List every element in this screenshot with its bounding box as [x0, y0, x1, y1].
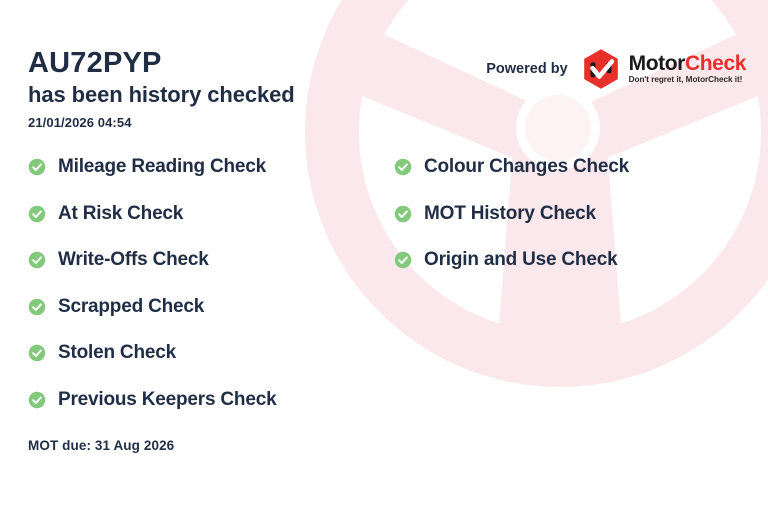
check-item-label: At Risk Check	[58, 203, 183, 225]
check-item: MOT History Check	[394, 202, 629, 226]
vehicle-registration: AU72PYP	[28, 48, 162, 78]
checks-left-column: Mileage Reading CheckAt Risk CheckWrite-…	[28, 155, 276, 412]
wordmark-check: Check	[685, 52, 746, 75]
check-timestamp: 21/01/2026 04:54	[28, 115, 132, 130]
green-check-circle-icon	[28, 391, 46, 409]
green-check-circle-icon	[28, 205, 46, 223]
check-item-label: Previous Keepers Check	[58, 389, 276, 411]
green-check-circle-icon	[28, 251, 46, 269]
check-item: Origin and Use Check	[394, 248, 629, 272]
motorcheck-wordmark: MotorCheck Don't regret it, MotorCheck i…	[629, 53, 746, 84]
motorcheck-hexagon-m-check-icon	[580, 48, 622, 90]
check-item: At Risk Check	[28, 202, 276, 226]
wordmark-motor: Motor	[629, 52, 685, 75]
check-item: Previous Keepers Check	[28, 388, 276, 412]
check-item: Mileage Reading Check	[28, 155, 276, 179]
check-item: Stolen Check	[28, 341, 276, 365]
check-item: Colour Changes Check	[394, 155, 629, 179]
check-item-label: Stolen Check	[58, 342, 176, 364]
brand-tagline: Don't regret it, MotorCheck it!	[629, 76, 746, 84]
powered-by-label: Powered by	[486, 61, 567, 77]
green-check-circle-icon	[28, 344, 46, 362]
check-item: Scrapped Check	[28, 295, 276, 319]
green-check-circle-icon	[394, 205, 412, 223]
green-check-circle-icon	[394, 158, 412, 176]
powered-by-brand: Powered by MotorCheck Don't regret it, M…	[486, 48, 746, 90]
green-check-circle-icon	[28, 298, 46, 316]
check-item-label: Mileage Reading Check	[58, 156, 266, 178]
check-item-label: Origin and Use Check	[424, 249, 617, 271]
check-item-label: MOT History Check	[424, 203, 596, 225]
history-check-card: AU72PYP has been history checked 21/01/2…	[0, 0, 768, 512]
green-check-circle-icon	[28, 158, 46, 176]
checks-right-column: Colour Changes CheckMOT History CheckOri…	[394, 155, 629, 272]
status-line: has been history checked	[28, 83, 295, 107]
check-item: Write-Offs Check	[28, 248, 276, 272]
check-item-label: Colour Changes Check	[424, 156, 629, 178]
motorcheck-logo[interactable]: MotorCheck Don't regret it, MotorCheck i…	[580, 48, 746, 90]
green-check-circle-icon	[394, 251, 412, 269]
mot-due-text: MOT due: 31 Aug 2026	[28, 438, 174, 453]
wordmark-text: MotorCheck	[629, 53, 746, 74]
check-item-label: Scrapped Check	[58, 296, 204, 318]
check-item-label: Write-Offs Check	[58, 249, 209, 271]
